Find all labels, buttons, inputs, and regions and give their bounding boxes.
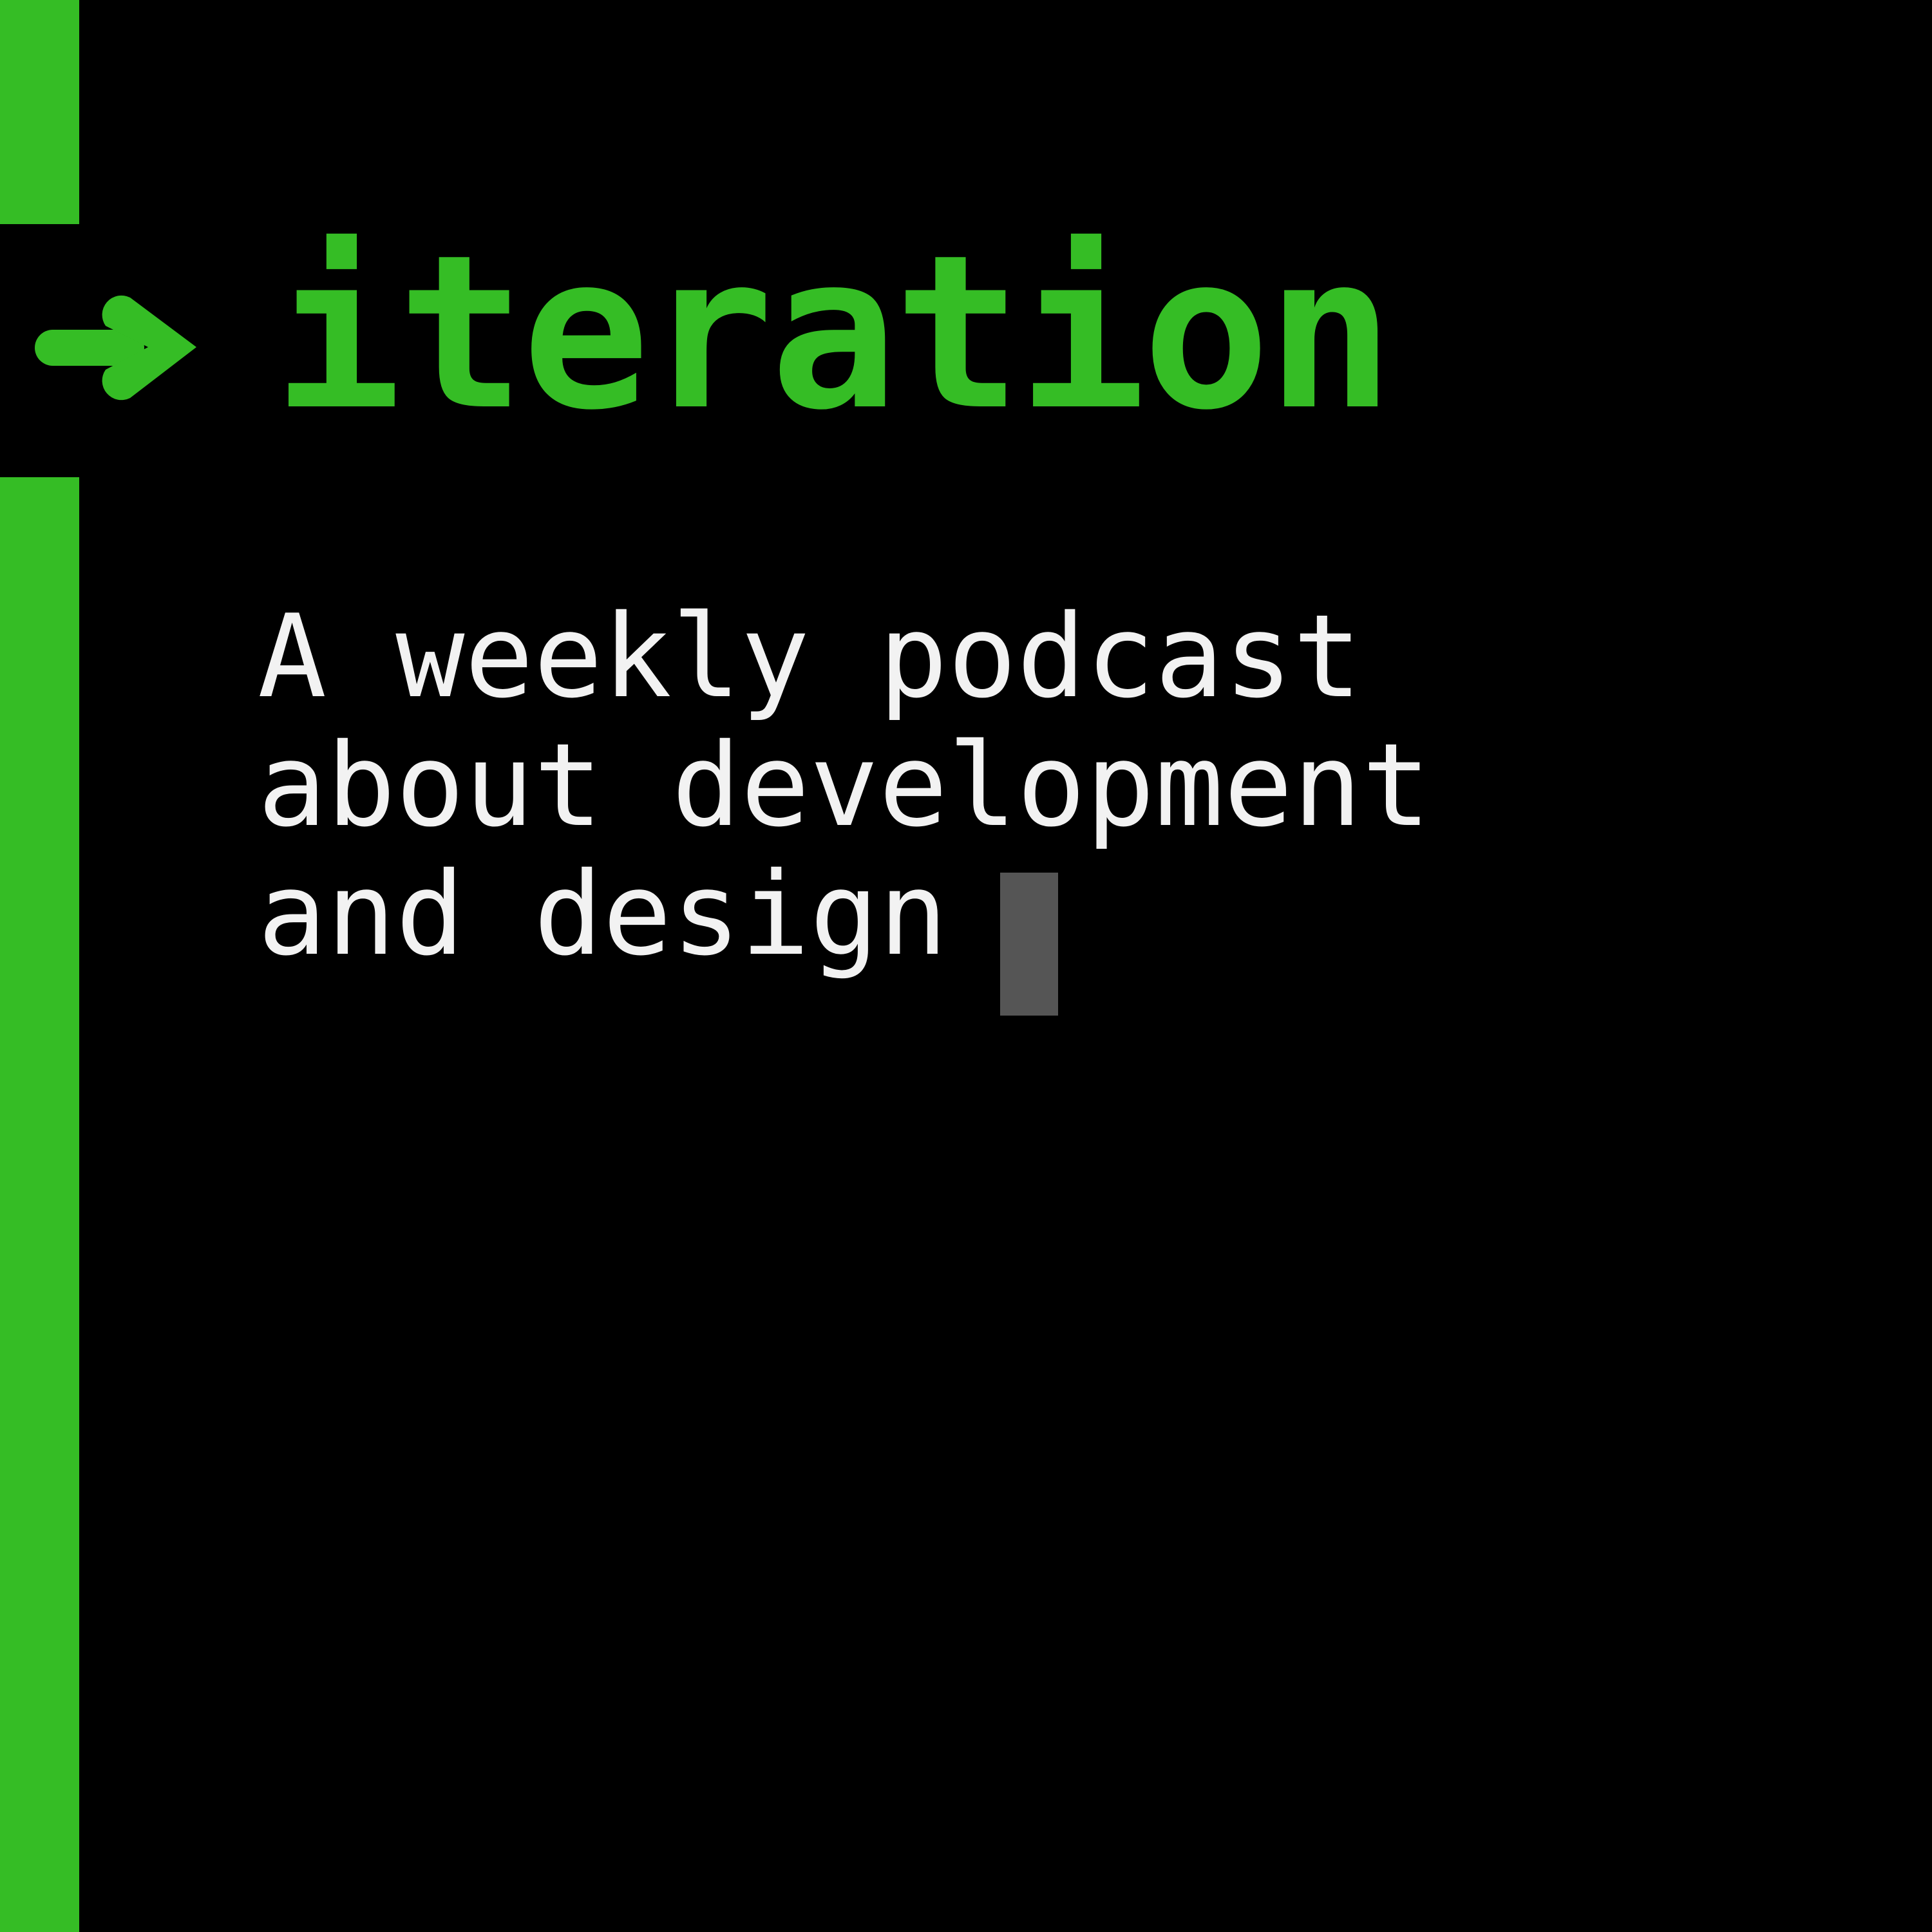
tagline-line: and design [258, 850, 1431, 979]
tagline-line-text: A weekly podcast [258, 592, 1362, 721]
arrow-right-icon [32, 258, 206, 438]
tagline-line: A weekly podcast [258, 592, 1431, 721]
left-green-rail-bottom-segment [0, 477, 79, 1932]
terminal-cursor-block [1000, 873, 1058, 1016]
podcast-cover-artwork: iteration A weekly podcast about develop… [0, 0, 1932, 1932]
left-green-rail-top-segment [0, 0, 79, 224]
tagline-block: A weekly podcast about development and d… [258, 592, 1431, 979]
page-title: iteration [274, 227, 1390, 439]
tagline-line-text: and design [258, 850, 948, 979]
tagline-line-text: about development [258, 721, 1431, 850]
tagline-line: about development [258, 721, 1431, 850]
